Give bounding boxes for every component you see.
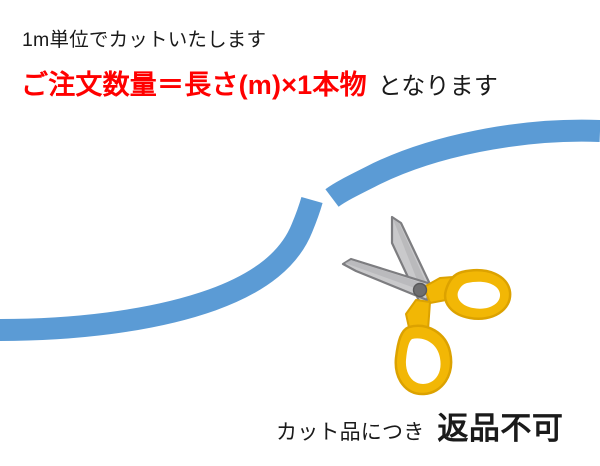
formula-suffix-text: となります xyxy=(367,73,498,100)
unit-note-text: 1m単位でカットいたします xyxy=(22,31,266,51)
footer-prefix-text: カット品につき xyxy=(276,421,424,444)
footer-emphasis-text: 返品不可 xyxy=(424,411,563,446)
cable-segment-left xyxy=(0,200,312,330)
formula-emphasis-text: ご注文数量＝長さ(m)×1本物 xyxy=(21,70,367,100)
cut-notice-banner: 1m単位でカットいたします ご注文数量＝長さ(m)×1本物となります カット品に… xyxy=(0,0,600,466)
formula-line: ご注文数量＝長さ(m)×1本物となります xyxy=(21,72,498,99)
cable-segment-right xyxy=(332,131,600,198)
footer-line: カット品につき返品不可 xyxy=(276,413,563,444)
